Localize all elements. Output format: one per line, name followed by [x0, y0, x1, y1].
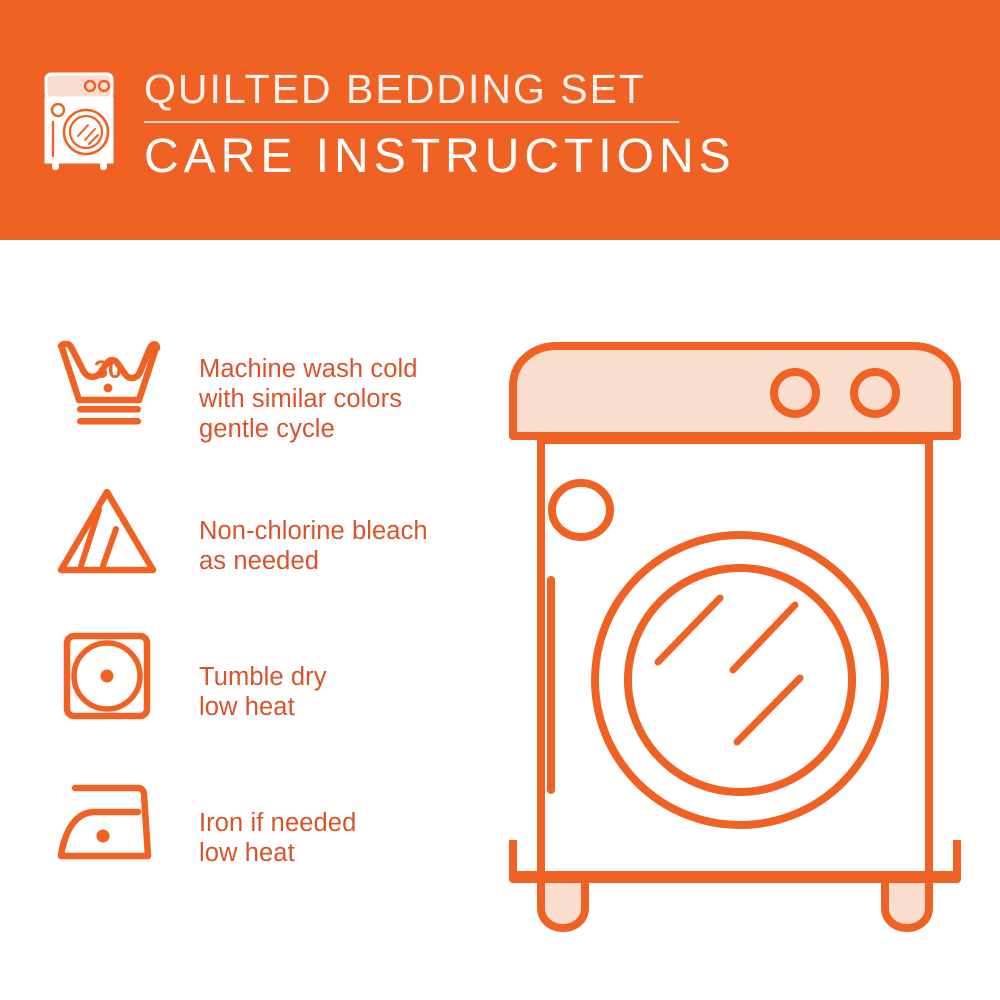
care-text-tumble-dry: Tumble dry low heat — [169, 624, 327, 722]
care-row-machine-wash: 30 Machine wash cold with similar colors… — [45, 332, 485, 478]
washing-machine-illustration — [495, 330, 975, 940]
header-content: QUILTED BEDDING SET CARE INSTRUCTIONS — [42, 60, 736, 184]
machine-wash-symbol-wrap: 30 — [45, 332, 169, 436]
care-row-iron: Iron if needed low heat — [45, 770, 485, 916]
dry-heat-dot — [101, 670, 114, 683]
care-row-tumble-dry: Tumble dry low heat — [45, 624, 485, 770]
care-row-bleach: Non-chlorine bleach as needed — [45, 478, 485, 624]
machine-leg-left — [541, 879, 585, 928]
control-panel — [513, 346, 957, 436]
care-text-bleach: Non-chlorine bleach as needed — [169, 478, 428, 576]
tumble-dry-symbol-wrap — [45, 624, 169, 728]
iron-symbol-wrap — [45, 770, 169, 874]
bleach-stripe-2 — [103, 529, 116, 566]
gentle-bar-2 — [77, 418, 141, 425]
machine-wash-temperature: 30 — [94, 356, 122, 384]
care-text-iron: Iron if needed low heat — [169, 770, 356, 868]
machine-wash-symbol: 30 — [53, 336, 161, 436]
header-banner: QUILTED BEDDING SET CARE INSTRUCTIONS — [0, 0, 1000, 240]
tumble-dry-symbol — [53, 628, 161, 728]
non-chlorine-bleach-symbol — [53, 482, 161, 582]
iron-heat-dot — [97, 830, 110, 843]
iron-symbol — [53, 774, 161, 874]
care-instructions-page: QUILTED BEDDING SET CARE INSTRUCTIONS 30… — [0, 0, 1000, 1000]
care-instruction-list: 30 Machine wash cold with similar colors… — [45, 332, 485, 916]
page-title-secondary: CARE INSTRUCTIONS — [144, 130, 736, 184]
bleach-symbol-wrap — [45, 478, 169, 582]
machine-leg-right — [885, 879, 929, 928]
title-divider — [144, 121, 679, 123]
page-title-primary: QUILTED BEDDING SET — [144, 66, 736, 112]
care-text-machine-wash: Machine wash cold with similar colors ge… — [169, 332, 418, 444]
gentle-bar-1 — [77, 406, 141, 413]
title-block: QUILTED BEDDING SET CARE INSTRUCTIONS — [144, 60, 736, 184]
wash-heat-dot — [104, 384, 113, 393]
washing-machine-icon — [42, 70, 122, 178]
